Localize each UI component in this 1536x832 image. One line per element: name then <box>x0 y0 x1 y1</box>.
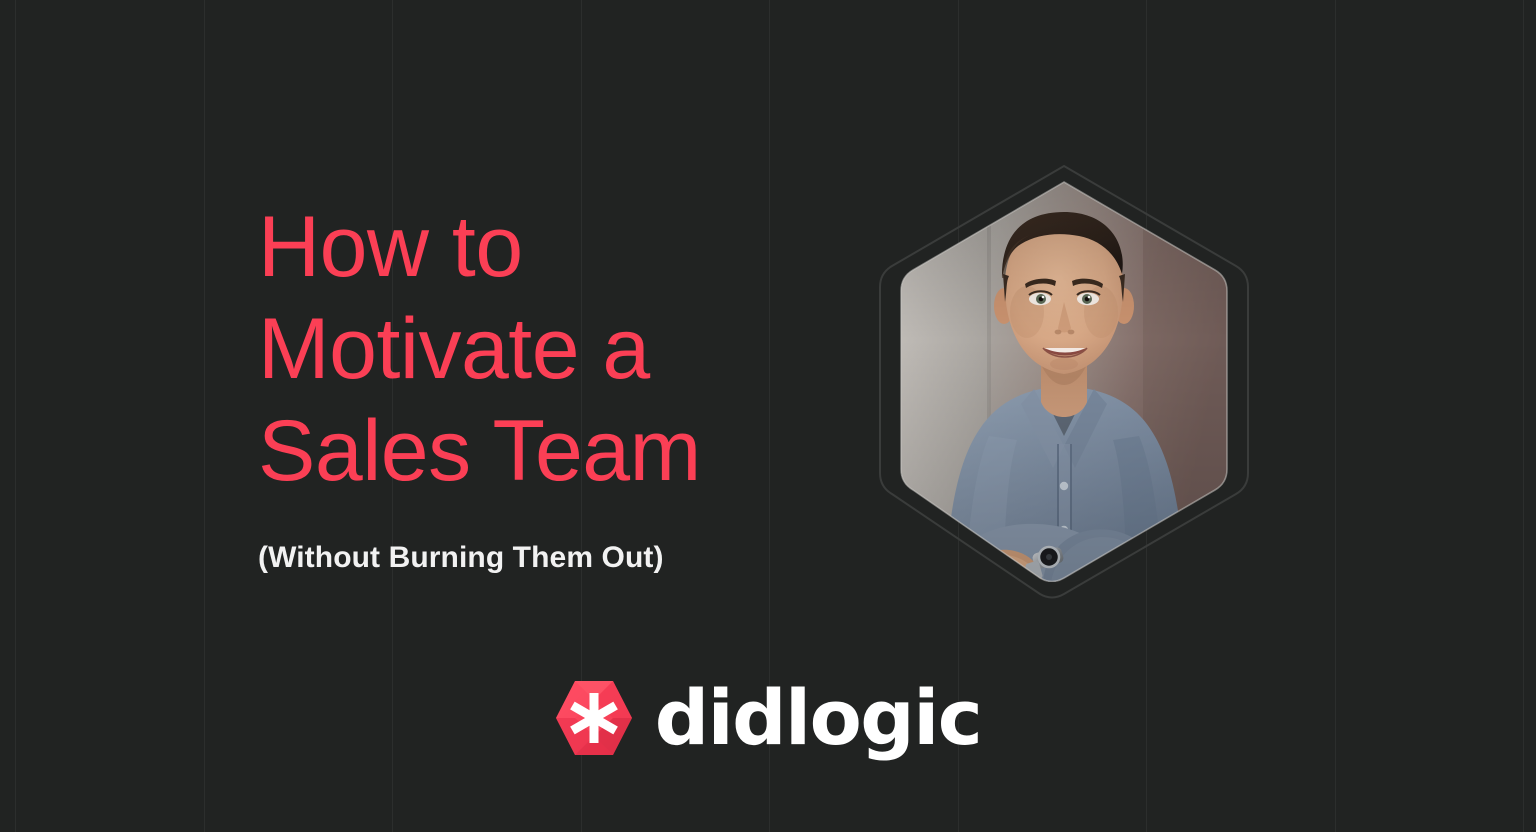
portrait-figure <box>866 160 1262 600</box>
didlogic-logo-icon <box>555 678 633 758</box>
brand-wordmark: didlogic <box>655 680 982 756</box>
slide-canvas: How to Motivate a Sales Team (Without Bu… <box>0 0 1536 832</box>
title-block: How to Motivate a Sales Team (Without Bu… <box>258 196 838 576</box>
page-title: How to Motivate a Sales Team <box>258 196 838 502</box>
brand-lockup: didlogic <box>0 678 1536 758</box>
portrait-photo <box>893 178 1235 582</box>
page-subtitle: (Without Burning Them Out) <box>258 540 838 576</box>
